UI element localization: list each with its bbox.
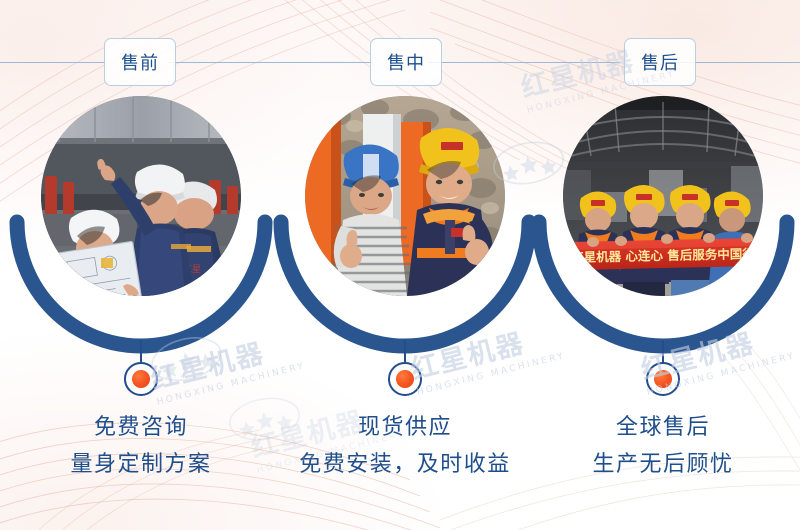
badge-during-sales[interactable]: 售中 — [370, 38, 442, 86]
stage-badge-row: 售前 售中 售后 — [0, 38, 800, 88]
marker-stem-after-sales — [662, 340, 664, 364]
badge-during-sales-label: 售中 — [387, 49, 425, 75]
photo-during-sales-art — [305, 96, 505, 296]
marker-dot-after-sales[interactable] — [646, 362, 680, 396]
caption-after-sales-line2: 生产无后顾忧 — [513, 449, 800, 480]
caption-during-sales-line2: 免费安装，及时收益 — [255, 449, 555, 480]
caption-during-sales-line1: 现货供应 — [255, 412, 555, 443]
marker-dot-pre-sales[interactable] — [124, 362, 158, 396]
marker-dot-core-icon — [396, 370, 414, 388]
caption-pre-sales-line2: 量身定制方案 — [0, 449, 291, 480]
caption-during-sales: 现货供应 免费安装，及时收益 — [255, 412, 555, 480]
caption-pre-sales-line1: 免费咨询 — [0, 412, 291, 443]
caption-after-sales-line1: 全球售后 — [513, 412, 800, 443]
photo-during-sales — [305, 96, 505, 296]
badge-pre-sales-label: 售前 — [121, 49, 159, 75]
caption-pre-sales: 免费咨询 量身定制方案 — [0, 412, 291, 480]
stage-group-pre-sales: 红星 — [8, 96, 274, 396]
connector-line-2 — [428, 62, 620, 63]
photo-pre-sales-art: 红星 — [41, 96, 241, 296]
badge-pre-sales[interactable]: 售前 — [104, 38, 176, 86]
marker-dot-core-icon — [132, 370, 150, 388]
photo-pre-sales: 红星 — [41, 96, 241, 296]
badge-after-sales-label: 售后 — [641, 49, 679, 75]
marker-dot-during-sales[interactable] — [388, 362, 422, 396]
badge-after-sales[interactable]: 售后 — [624, 38, 696, 86]
marker-stem-pre-sales — [140, 340, 142, 364]
marker-stem-during-sales — [404, 340, 406, 364]
photo-after-sales-art: 红星机器 心连心 售后服务中国行 — [563, 96, 763, 296]
caption-after-sales: 全球售后 生产无后顾忧 — [513, 412, 800, 480]
marker-dot-core-icon — [654, 370, 672, 388]
connector-line-1 — [168, 62, 373, 63]
stage-group-during-sales — [272, 96, 538, 396]
photo-after-sales: 红星机器 心连心 售后服务中国行 — [563, 96, 763, 296]
service-process-banner: 售前 售中 售后 — [0, 0, 800, 530]
connector-line-left — [0, 62, 104, 63]
stage-group-after-sales: 红星机器 心连心 售后服务中国行 — [530, 96, 796, 396]
